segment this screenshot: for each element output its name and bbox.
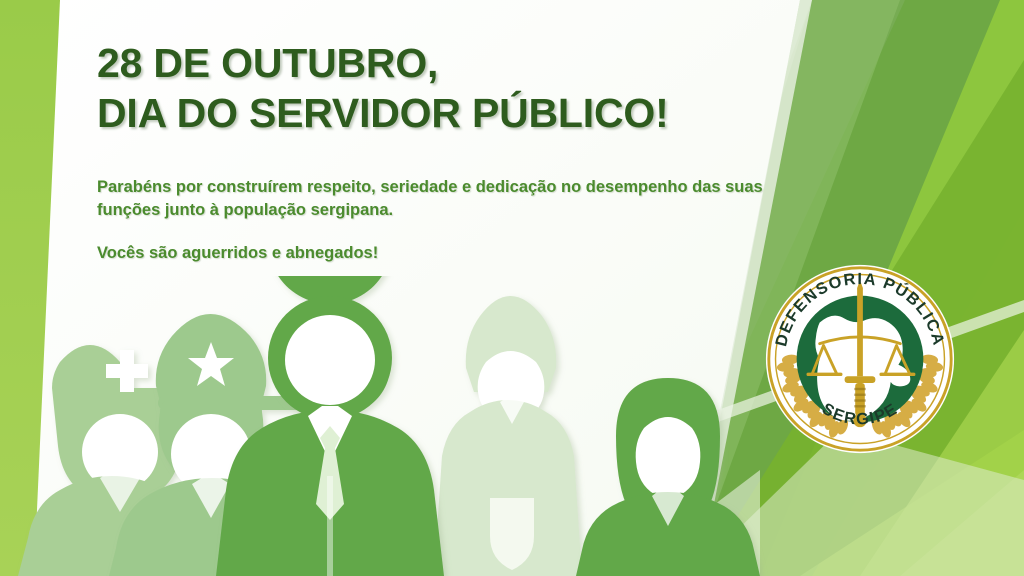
title-line-1: 28 DE OUTUBRO, <box>97 40 438 86</box>
figure-woman <box>576 378 760 576</box>
defensoria-publica-sergipe-emblem: DEFENSORIA PÚBLICA SERGIPE <box>764 263 956 455</box>
public-servants-illustration <box>0 276 820 576</box>
title-line-2: DIA DO SERVIDOR PÚBLICO! <box>97 90 669 136</box>
figure-worker <box>434 296 582 576</box>
slide-canvas: DEFENSORIA PÚBLICA SERGIPE 28 DE OUTUBRO… <box>0 0 1024 576</box>
message-paragraph-2: Vocês são aguerridos e abnegados! <box>97 242 597 265</box>
page-title: 28 DE OUTUBRO, DIA DO SERVIDOR PÚBLICO! <box>97 38 837 138</box>
slide-text-block: 28 DE OUTUBRO, DIA DO SERVIDOR PÚBLICO! … <box>97 38 837 138</box>
message-paragraph-1: Parabéns por construírem respeito, serie… <box>97 176 822 223</box>
facet-lower-accent <box>900 470 1024 576</box>
